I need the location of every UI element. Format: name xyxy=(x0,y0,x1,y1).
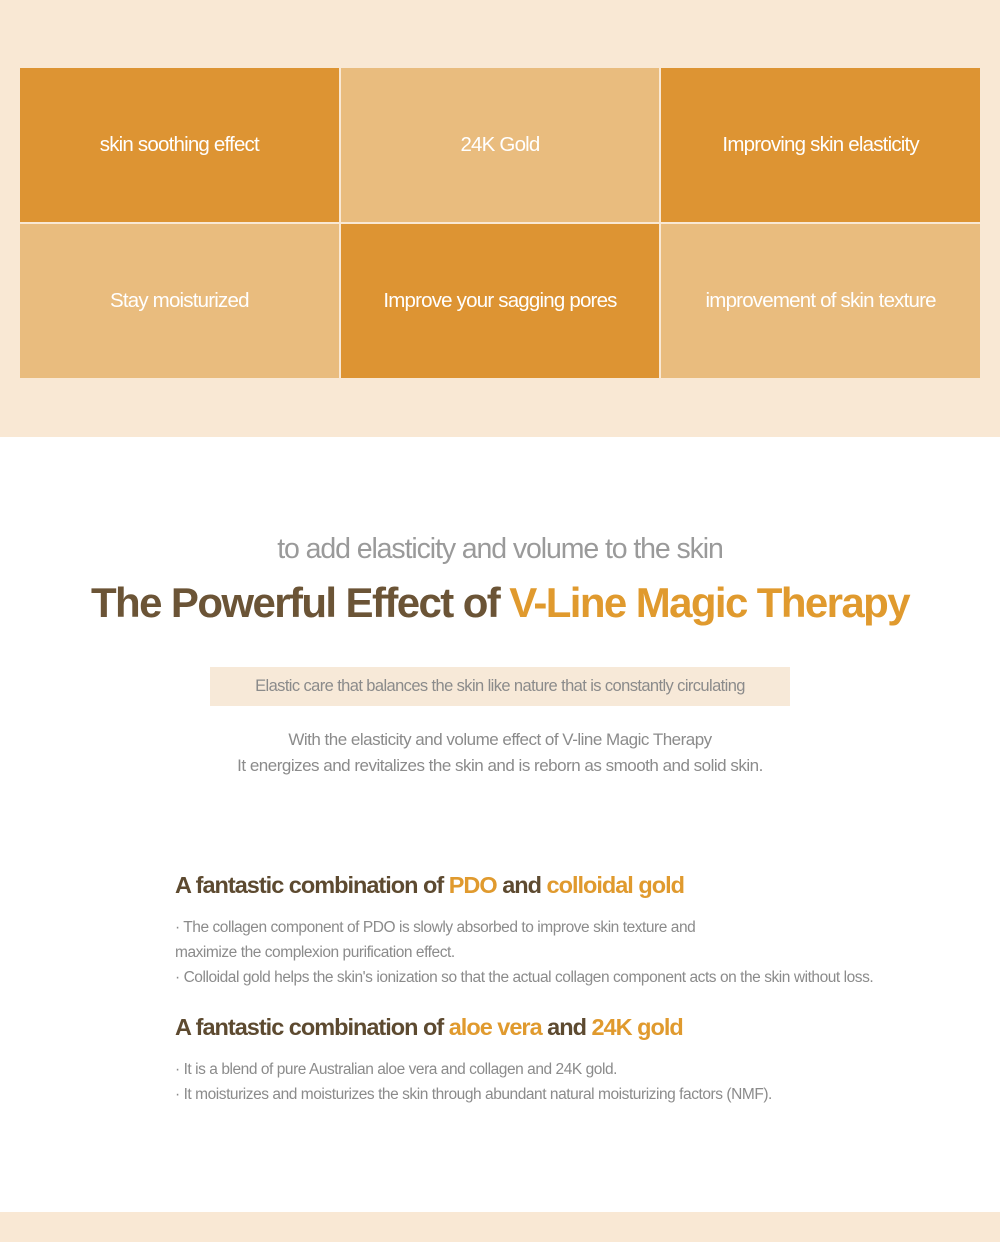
hero-eyebrow: to add elasticity and volume to the skin xyxy=(0,533,1000,566)
hero-lead-paragraph: With the elasticity and volume effect of… xyxy=(0,727,1000,779)
benefit-cell-24k-gold: 24K Gold xyxy=(341,68,660,222)
feature-title: A fantastic combination of aloe vera and… xyxy=(175,1014,985,1041)
benefit-cell-skin-soothing-effect: skin soothing effect xyxy=(20,68,339,222)
feature-body: · The collagen component of PDO is slowl… xyxy=(175,915,985,990)
benefit-cell-label: Improve your sagging pores xyxy=(383,289,616,314)
feature-body-line: · The collagen component of PDO is slowl… xyxy=(175,915,985,940)
feature-body-line: · It is a blend of pure Australian aloe … xyxy=(175,1057,985,1082)
main-content-section: to add elasticity and volume to the skin… xyxy=(0,437,1000,1212)
benefit-cell-label: improvement of skin texture xyxy=(706,289,936,314)
benefit-cell-improving-skin-elasticity: Improving skin elasticity xyxy=(661,68,980,222)
feature-title-prefix: A fantastic combination of xyxy=(175,1014,449,1040)
benefit-cell-improvement-of-skin-texture: improvement of skin texture xyxy=(661,224,980,378)
top-cream-band: skin soothing effect 24K Gold Improving … xyxy=(0,0,1000,437)
feature-body-line: maximize the complexion purification eff… xyxy=(175,940,985,965)
benefit-cell-label: Stay moisturized xyxy=(110,289,249,314)
feature-title-prefix: A fantastic combination of xyxy=(175,872,449,898)
feature-title-accent-1: PDO xyxy=(449,872,497,898)
hero-lead-line-1: With the elasticity and volume effect of… xyxy=(0,727,1000,753)
benefit-cell-stay-moisturized: Stay moisturized xyxy=(20,224,339,378)
feature-block-pdo: A fantastic combination of PDO and collo… xyxy=(175,872,985,990)
feature-title: A fantastic combination of PDO and collo… xyxy=(175,872,985,899)
tagline-banner: Elastic care that balances the skin like… xyxy=(210,667,790,706)
feature-title-middle: and xyxy=(497,872,547,898)
bottom-cream-band xyxy=(0,1212,1000,1242)
page-title: The Powerful Effect of V-Line Magic Ther… xyxy=(0,579,1000,627)
feature-title-middle: and xyxy=(542,1014,592,1040)
feature-title-accent-2: colloidal gold xyxy=(547,872,684,898)
feature-title-accent-1: aloe vera xyxy=(449,1014,542,1040)
benefit-cell-improve-sagging-pores: Improve your sagging pores xyxy=(341,224,660,378)
feature-body-line: · It moisturizes and moisturizes the ski… xyxy=(175,1082,985,1107)
benefit-cell-label: 24K Gold xyxy=(460,133,539,158)
hero-lead-line-2: It energizes and revitalizes the skin an… xyxy=(0,753,1000,779)
tagline-text: Elastic care that balances the skin like… xyxy=(255,677,745,696)
page-title-accent: V-Line Magic Therapy xyxy=(509,579,909,626)
benefit-cell-label: skin soothing effect xyxy=(100,133,259,158)
feature-block-aloe-vera: A fantastic combination of aloe vera and… xyxy=(175,1014,985,1107)
page-title-plain: The Powerful Effect of xyxy=(91,579,509,626)
feature-title-accent-2: 24K gold xyxy=(591,1014,682,1040)
benefit-cell-label: Improving skin elasticity xyxy=(722,133,918,158)
feature-body-line: · Colloidal gold helps the skin's ioniza… xyxy=(175,965,985,990)
feature-body: · It is a blend of pure Australian aloe … xyxy=(175,1057,985,1107)
benefit-grid: skin soothing effect 24K Gold Improving … xyxy=(20,68,980,378)
